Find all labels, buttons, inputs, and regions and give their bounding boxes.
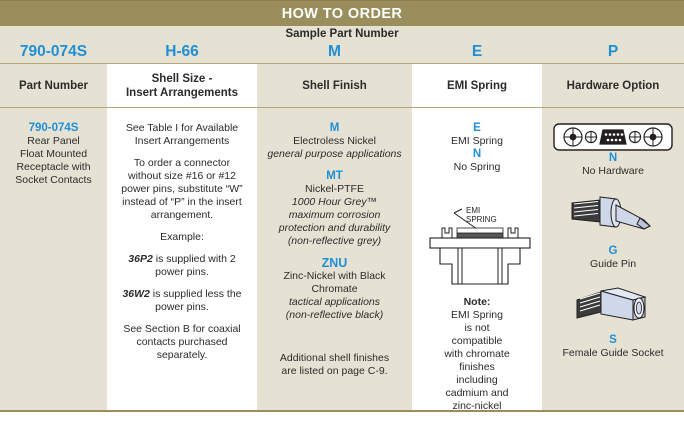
emi-spring-note-line4: with chromate bbox=[418, 348, 536, 361]
shell-size-footer-line3: separately. bbox=[113, 349, 251, 362]
shell-finish-option3-name1: Zinc-Nickel with Black bbox=[263, 270, 406, 283]
cell-emi-spring: E EMI Spring N No Spring EMI SPRING bbox=[412, 108, 542, 410]
guide-pin-icon bbox=[558, 193, 668, 245]
emi-spring-option1-code: E bbox=[418, 122, 536, 135]
shell-finish-option2-note2: maximum corrosion bbox=[263, 209, 406, 222]
hardware-option3-code: S bbox=[548, 334, 678, 347]
shell-size-example-1-text: is supplied with 2 bbox=[153, 253, 236, 265]
shell-size-example-1-code: 36P2 bbox=[128, 253, 153, 265]
part-number-desc-line1: Rear Panel bbox=[6, 135, 101, 148]
column-header-emi-spring-label: EMI Spring bbox=[447, 79, 507, 93]
column-header-hardware-option: Hardware Option bbox=[542, 64, 684, 107]
shell-size-example-2: 36W2 is supplied less the bbox=[113, 288, 251, 301]
sample-code-emi-spring: E bbox=[412, 43, 542, 61]
shell-finish-option2-name: Nickel-PTFE bbox=[263, 183, 406, 196]
shell-finish-option3-note1: tactical applications bbox=[263, 296, 406, 309]
sample-code-shell-size: H-66 bbox=[107, 43, 257, 61]
cell-part-number: 790-074S Rear Panel Float Mounted Recept… bbox=[0, 108, 107, 410]
emi-spring-note-line5: finishes bbox=[418, 361, 536, 374]
column-header-emi-spring: EMI Spring bbox=[412, 64, 542, 107]
emi-callout-line1: EMI bbox=[466, 206, 480, 215]
shell-size-intro-line1: See Table I for Available bbox=[113, 122, 251, 135]
emi-spring-cross-section-icon: EMI SPRING bbox=[418, 204, 542, 292]
sample-part-number-codes: 790-074S H-66 M E P bbox=[0, 41, 684, 63]
table-body-row: 790-074S Rear Panel Float Mounted Recept… bbox=[0, 107, 684, 412]
hardware-option2-code: G bbox=[548, 245, 678, 258]
shell-size-example-2-line2: power pins. bbox=[113, 301, 251, 314]
cell-shell-size: See Table I for Available Insert Arrange… bbox=[107, 108, 257, 410]
shell-size-para1-line1: To order a connector bbox=[113, 157, 251, 170]
shell-size-header-line2: Insert Arrangements bbox=[126, 87, 238, 99]
column-header-shell-finish-label: Shell Finish bbox=[302, 79, 367, 93]
emi-spring-option1-name: EMI Spring bbox=[418, 135, 536, 148]
shell-finish-option3-note2: (non-reflective black) bbox=[263, 309, 406, 322]
hardware-option3-name: Female Guide Socket bbox=[548, 347, 678, 360]
emi-callout-line2: SPRING bbox=[466, 215, 497, 224]
shell-finish-option1-code: M bbox=[263, 122, 406, 135]
how-to-order-table: HOW TO ORDER Sample Part Number 790-074S… bbox=[0, 0, 684, 421]
emi-spring-diagram: EMI SPRING bbox=[418, 204, 542, 296]
shell-size-example-label: Example: bbox=[113, 231, 251, 244]
emi-spring-note-line2: is not bbox=[418, 322, 536, 335]
part-number-desc-line2: Float Mounted bbox=[6, 148, 101, 161]
column-header-part-number: Part Number bbox=[0, 64, 107, 107]
hardware-option2-name: Guide Pin bbox=[548, 258, 678, 271]
emi-spring-note-line7: cadmium and bbox=[418, 387, 536, 400]
emi-spring-option2-name: No Spring bbox=[418, 161, 536, 174]
cell-shell-finish: M Electroless Nickel general purpose app… bbox=[257, 108, 412, 410]
emi-spring-note-line3: compatible bbox=[418, 335, 536, 348]
shell-size-footer-line2: contacts purchased bbox=[113, 336, 251, 349]
shell-size-para1-line4: instead of “P” in the insert bbox=[113, 196, 251, 209]
sample-code-hardware-option: P bbox=[542, 43, 684, 61]
shell-finish-option2-note4: (non-reflective grey) bbox=[263, 235, 406, 248]
shell-finish-option2-code: MT bbox=[263, 170, 406, 183]
column-header-hardware-option-label: Hardware Option bbox=[567, 79, 660, 93]
shell-size-para1-line3: power pins, substitute “W” bbox=[113, 183, 251, 196]
female-guide-socket-icon bbox=[563, 286, 663, 334]
shell-size-intro-line2: Insert Arrangements bbox=[113, 135, 251, 148]
shell-finish-option1-note: general purpose applications bbox=[263, 148, 406, 161]
shell-finish-footer-line2: are listed on page C-9. bbox=[263, 365, 406, 378]
part-number-desc-line4: Socket Contacts bbox=[6, 174, 101, 187]
sample-code-part-number: 790-074S bbox=[0, 43, 107, 61]
part-number-code: 790-074S bbox=[6, 122, 101, 135]
shell-size-footer-line1: See Section B for coaxial bbox=[113, 323, 251, 336]
shell-size-header-line1: Shell Size - bbox=[152, 73, 213, 85]
column-header-shell-finish: Shell Finish bbox=[257, 64, 412, 107]
page-title: HOW TO ORDER bbox=[282, 6, 403, 22]
column-header-shell-size-label: Shell Size - Insert Arrangements bbox=[126, 72, 238, 100]
sample-part-number-row: Sample Part Number 790-074S H-66 M E P bbox=[0, 26, 684, 63]
cell-hardware-option: N No Hardware G Guide Pin bbox=[542, 108, 684, 410]
table-title-bar: HOW TO ORDER bbox=[0, 0, 684, 26]
hardware-option1-name: No Hardware bbox=[548, 165, 678, 178]
shell-size-para1-line2: without size #16 or #12 bbox=[113, 170, 251, 183]
shell-finish-option2-note3: protection and durability bbox=[263, 222, 406, 235]
emi-spring-note-line8: zinc-nickel bbox=[418, 400, 536, 410]
shell-size-example-2-code: 36W2 bbox=[122, 288, 149, 300]
shell-finish-option3-code: ZNU bbox=[263, 257, 406, 270]
emi-spring-option2-code: N bbox=[418, 148, 536, 161]
shell-finish-option3-name2: Chromate bbox=[263, 283, 406, 296]
column-header-part-number-label: Part Number bbox=[19, 79, 88, 93]
shell-size-example-1: 36P2 is supplied with 2 bbox=[113, 253, 251, 266]
shell-size-example-1-line2: power pins. bbox=[113, 266, 251, 279]
column-header-row: Part Number Shell Size - Insert Arrangem… bbox=[0, 63, 684, 107]
shell-size-para1-line5: arrangement. bbox=[113, 209, 251, 222]
shell-finish-option2-note1: 1000 Hour Grey™ bbox=[263, 196, 406, 209]
emi-spring-note-line6: including bbox=[418, 374, 536, 387]
shell-finish-option1-name: Electroless Nickel bbox=[263, 135, 406, 148]
emi-spring-note-line1: EMI Spring bbox=[418, 309, 536, 322]
emi-spring-note-title: Note: bbox=[418, 296, 536, 309]
sample-code-shell-finish: M bbox=[257, 43, 412, 61]
sample-part-number-caption: Sample Part Number bbox=[0, 26, 684, 41]
shell-size-example-2-text: is supplied less the bbox=[150, 288, 242, 300]
shell-finish-footer-line1: Additional shell finishes bbox=[263, 352, 406, 365]
dsub-connector-icon bbox=[553, 122, 673, 152]
part-number-desc-line3: Receptacle with bbox=[6, 161, 101, 174]
column-header-shell-size: Shell Size - Insert Arrangements bbox=[107, 64, 257, 107]
hardware-option1-code: N bbox=[548, 152, 678, 165]
